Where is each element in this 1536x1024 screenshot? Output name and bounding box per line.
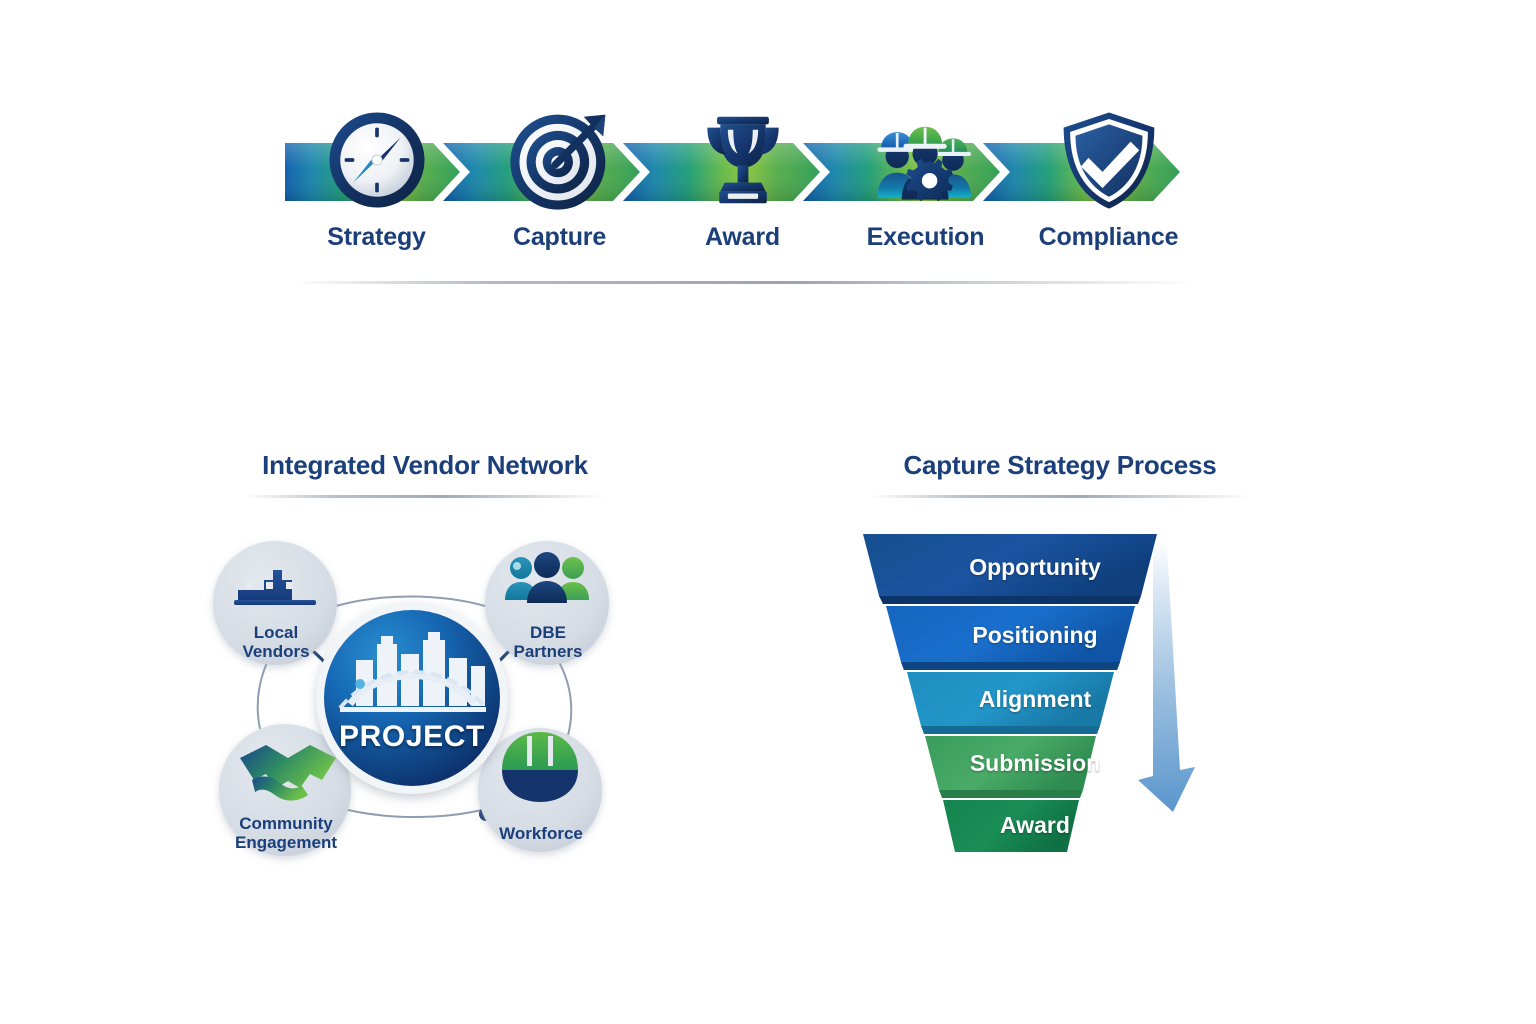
compass-icon <box>323 106 431 214</box>
target-bullseye-icon <box>506 106 614 214</box>
flow-step-strategy[interactable] <box>285 95 468 225</box>
funnel-band-opportunity[interactable] <box>863 534 1157 604</box>
capture-funnel-panel: Capture Strategy Process <box>855 450 1265 870</box>
hard-hat-icon <box>502 732 578 802</box>
funnel-band-submission[interactable] <box>925 736 1096 798</box>
funnel-bands <box>863 534 1157 852</box>
flow-label-cell: Award <box>651 223 834 269</box>
flow-label-award: Award <box>705 223 780 251</box>
vendor-network-panel: Integrated Vendor Network <box>190 450 660 870</box>
capture-funnel-svg <box>855 512 1265 862</box>
node-label-dbe-partners: DBE Partners <box>492 623 604 661</box>
hub-label-project: PROJECT <box>332 720 492 754</box>
flow-label-cell: Compliance <box>1017 223 1200 269</box>
node-label-community-engagement: Community Engagement <box>210 814 362 852</box>
section-divider <box>293 281 1193 284</box>
infographic-canvas: Strategy Capture Award Execution Complia… <box>0 0 1536 1024</box>
process-flow-labels: Strategy Capture Award Execution Complia… <box>285 223 1200 269</box>
people-group-icon <box>505 552 589 603</box>
flow-label-cell: Strategy <box>285 223 468 269</box>
vendor-network-graphic: Local Vendors DBE Partners Community Eng… <box>190 508 660 868</box>
shield-check-icon <box>1055 106 1163 214</box>
vendor-network-title: Integrated Vendor Network <box>190 450 660 481</box>
flow-step-capture[interactable] <box>468 95 651 225</box>
node-label-local-vendors: Local Vendors <box>220 623 332 661</box>
down-arrow-icon <box>1138 540 1195 812</box>
node-label-workforce: Workforce <box>482 824 600 843</box>
project-hub[interactable] <box>316 602 508 794</box>
flow-label-cell: Capture <box>468 223 651 269</box>
flow-label-compliance: Compliance <box>1039 223 1179 251</box>
trophy-icon <box>689 106 797 214</box>
flow-step-execution[interactable] <box>834 95 1017 225</box>
funnel-band-alignment[interactable] <box>907 672 1114 734</box>
funnel-title-divider <box>870 495 1250 498</box>
capture-funnel-title: Capture Strategy Process <box>855 450 1265 481</box>
process-flow-section: Strategy Capture Award Execution Complia… <box>285 95 1200 295</box>
process-flow-icons <box>285 95 1200 225</box>
flow-step-award[interactable] <box>651 95 834 225</box>
workers-gear-icon <box>872 106 980 214</box>
flow-step-compliance[interactable] <box>1017 95 1200 225</box>
vendor-title-divider <box>245 495 605 498</box>
flow-label-strategy: Strategy <box>327 223 425 251</box>
flow-label-capture: Capture <box>513 223 606 251</box>
flow-label-cell: Execution <box>834 223 1017 269</box>
funnel-band-positioning[interactable] <box>886 606 1135 670</box>
funnel-band-award[interactable] <box>943 800 1079 852</box>
flow-label-execution: Execution <box>867 223 985 251</box>
